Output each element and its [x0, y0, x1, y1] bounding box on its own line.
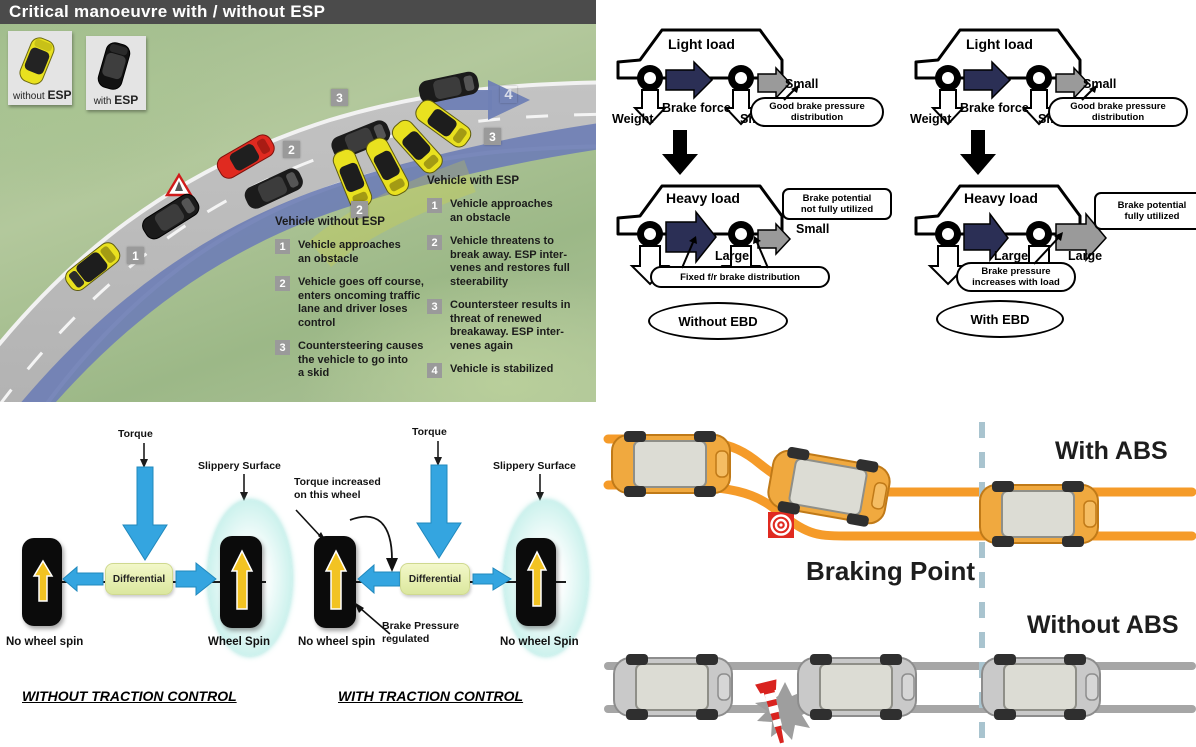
tc-differential-with: Differential: [400, 563, 470, 595]
tc-torque-arrow-without: [121, 467, 169, 562]
legend-chip-without-esp: without ESP: [8, 31, 72, 105]
tc-differential-without: Differential: [105, 563, 173, 595]
esp-step: 1 Vehicle approachesan obstacle: [427, 198, 592, 225]
ebd-dist-arrows-icon: [670, 236, 780, 270]
legend-car-black-icon: [91, 40, 141, 92]
tc-right-wheel-torque-arrow-without: [230, 549, 254, 611]
ebd-good-distribution-bubble-with: Good brake pressuredistribution: [1048, 97, 1188, 127]
esp-step: 2 Vehicle goes off course,enters oncomin…: [275, 276, 435, 330]
legend-label-with-esp: with ESP: [91, 93, 141, 107]
scene-marker-3b: 3: [484, 128, 501, 145]
tc-left-flow-arrow-with: [358, 564, 402, 594]
esp-column-title-without: Vehicle without ESP: [275, 216, 435, 228]
esp-step-text: Vehicle approachesan obstacle: [298, 239, 401, 266]
traction-with-group: Torque Slippery Surface Torque increased…: [290, 404, 596, 747]
ebd-heavy-load-label-without: Heavy load: [666, 190, 740, 206]
ebd-pressure-increases-text: Brake pressureincreases with load: [972, 266, 1060, 288]
legend-car-yellow-icon: [13, 35, 67, 87]
tc-right-flow-arrow-with: [473, 567, 513, 591]
tc-brake-regulated-text: Brake Pressureregulated: [382, 620, 459, 645]
ebd-without-group: Light load Weight Brake force Small Smal…: [600, 0, 898, 400]
tc-slippery-pointer-icon-without: [238, 474, 250, 502]
ebd-with-system-bubble: With EBD: [936, 300, 1064, 338]
abs-car-grey-3: [980, 652, 1102, 722]
traction-control-panel: Torque Slippery Surface: [0, 404, 596, 747]
esp-step-number: 3: [427, 299, 442, 314]
esp-step-text: Vehicle approachesan obstacle: [450, 198, 553, 225]
ebd-weight-label-with: Weight: [910, 112, 951, 126]
esp-step-number: 2: [427, 235, 442, 250]
abs-car-orange-3: [978, 479, 1100, 549]
esp-step: 3 Countersteering causesthe vehicle to g…: [275, 340, 435, 381]
ebd-with-group: Light load Weight Brake force Small Smal…: [898, 0, 1196, 400]
ebd-without-system-bubble: Without EBD: [648, 302, 788, 340]
tc-torque-label-with: Torque: [412, 426, 447, 438]
abs-car-grey-2: [796, 652, 918, 722]
scene-marker-4: 4: [500, 86, 517, 103]
ebd-fixed-distribution-text: Fixed f/r brake distribution: [680, 272, 800, 283]
abs-without-label: Without ABS: [1027, 611, 1179, 640]
tc-torque-label-without: Torque: [118, 428, 153, 440]
ebd-good-distribution-text-with: Good brake pressuredistribution: [1070, 101, 1166, 123]
esp-step: 1 Vehicle approachesan obstacle: [275, 239, 435, 266]
tc-torque-pointer-icon-with: [432, 441, 444, 467]
ebd-callout-arrow-icon: [780, 85, 804, 101]
tc-torque-arrow-with: [415, 465, 463, 560]
tc-torque-pointer-icon-without: [138, 443, 150, 469]
esp-step-text: Vehicle is stabilized: [450, 363, 553, 378]
ebd-brake-potential-bubble-without: Brake potentialnot fully utilized: [782, 188, 892, 220]
scene-marker-3a: 3: [331, 89, 348, 106]
esp-step-number: 2: [275, 276, 290, 291]
esp-panel: Critical manoeuvre with / without ESP: [0, 0, 596, 402]
ebd-brake-potential-bubble-with: Brake potentialfully utilized: [1094, 192, 1196, 230]
tc-torque-increased-note: Torque increasedon this wheel: [294, 476, 394, 502]
ebd-panel: Light load Weight Brake force Small Smal…: [600, 0, 1196, 400]
abs-car-orange-1: [610, 429, 732, 499]
bullseye-target-icon: [768, 512, 794, 538]
tc-brake-regulated-note: Brake Pressureregulated: [382, 620, 478, 646]
ebd-callout-arrow-icon-with: [1078, 85, 1102, 101]
ebd-pressure-arrow-icon: [1030, 232, 1070, 266]
ebd-large-label-front-with: Large: [994, 249, 1028, 263]
ebd-good-distribution-text-without: Good brake pressuredistribution: [769, 101, 865, 123]
ebd-brake-force-label-without: Brake force: [662, 101, 731, 115]
esp-step-text: Vehicle goes off course,enters oncoming …: [298, 276, 424, 330]
traction-without-group: Torque Slippery Surface: [0, 404, 298, 747]
ebd-light-load-label-without: Light load: [668, 36, 735, 52]
abs-with-label: With ABS: [1055, 437, 1168, 466]
tc-slippery-label-without: Slippery Surface: [198, 460, 281, 472]
esp-header-bar: Critical manoeuvre with / without ESP: [0, 0, 596, 24]
esp-column-without: Vehicle without ESP 1 Vehicle approaches…: [275, 216, 435, 391]
tc-right-wheel-label-with: No wheel Spin: [500, 636, 579, 648]
tc-right-wheel-label-without: Wheel Spin: [208, 636, 270, 648]
legend-chip-with-esp: with ESP: [86, 36, 146, 110]
tc-left-wheel-torque-arrow-with: [324, 549, 348, 611]
legend-label-without-esp: without ESP: [13, 88, 67, 102]
tc-title-with: WITH TRACTION CONTROL: [338, 688, 523, 704]
tc-title-without: WITHOUT TRACTION CONTROL: [22, 688, 237, 704]
ebd-brake-force-label-with: Brake force: [960, 101, 1029, 115]
esp-step-text: Countersteering causesthe vehicle to go …: [298, 340, 423, 381]
ebd-brake-potential-text-with: Brake potentialfully utilized: [1118, 200, 1187, 222]
tc-right-wheel-torque-arrow-with: [526, 550, 548, 608]
esp-step-number: 1: [275, 239, 290, 254]
esp-scene: without ESP with ESP 1 2 3 2: [0, 24, 596, 402]
scene-marker-1: 1: [127, 247, 144, 264]
esp-step: 2 Vehicle threatens tobreak away. ESP in…: [427, 235, 592, 289]
scene-marker-2a: 2: [283, 141, 300, 158]
esp-step: 4 Vehicle is stabilized: [427, 363, 592, 378]
ebd-brake-potential-text-without: Brake potentialnot fully utilized: [801, 193, 873, 215]
abs-braking-point-label: Braking Point: [806, 556, 975, 587]
tc-torque-increased-text: Torque increasedon this wheel: [294, 476, 381, 501]
esp-step-number: 3: [275, 340, 290, 355]
tc-left-wheel-label-without: No wheel spin: [6, 636, 83, 648]
tc-slippery-label-with: Slippery Surface: [493, 460, 576, 472]
esp-column-title-with: Vehicle with ESP: [427, 175, 592, 187]
abs-panel: With ABS Without ABS Braking Point: [600, 404, 1196, 747]
ebd-heavy-load-label-with: Heavy load: [964, 190, 1038, 206]
ebd-rear-force-small-heavy-without: Small: [796, 222, 829, 236]
tc-right-flow-arrow-without: [176, 562, 218, 596]
esp-column-with: Vehicle with ESP 1 Vehicle approachesan …: [427, 175, 592, 388]
tc-left-flow-arrow-without: [63, 566, 105, 592]
esp-step: 3 Countersteer results inthreat of renew…: [427, 299, 592, 353]
ebd-large-label-rear-with: Large: [1068, 249, 1102, 263]
esp-step-text: Vehicle threatens tobreak away. ESP inte…: [450, 235, 570, 289]
esp-step-number: 1: [427, 198, 442, 213]
esp-step-number: 4: [427, 363, 442, 378]
esp-title: Critical manoeuvre with / without ESP: [0, 2, 325, 22]
tc-left-wheel-torque-arrow-without: [32, 559, 54, 603]
ebd-light-load-label-with: Light load: [966, 36, 1033, 52]
tc-left-wheel-label-with: No wheel spin: [298, 636, 375, 648]
ebd-pressure-increases-bubble: Brake pressureincreases with load: [956, 262, 1076, 292]
infographic-root: Critical manoeuvre with / without ESP: [0, 0, 1196, 747]
abs-car-grey-1: [612, 652, 734, 722]
ebd-good-distribution-bubble-without: Good brake pressuredistribution: [750, 97, 884, 127]
esp-step-text: Countersteer results inthreat of renewed…: [450, 299, 570, 353]
ebd-weight-label-without: Weight: [612, 112, 653, 126]
tc-slippery-pointer-icon-with: [534, 474, 546, 502]
